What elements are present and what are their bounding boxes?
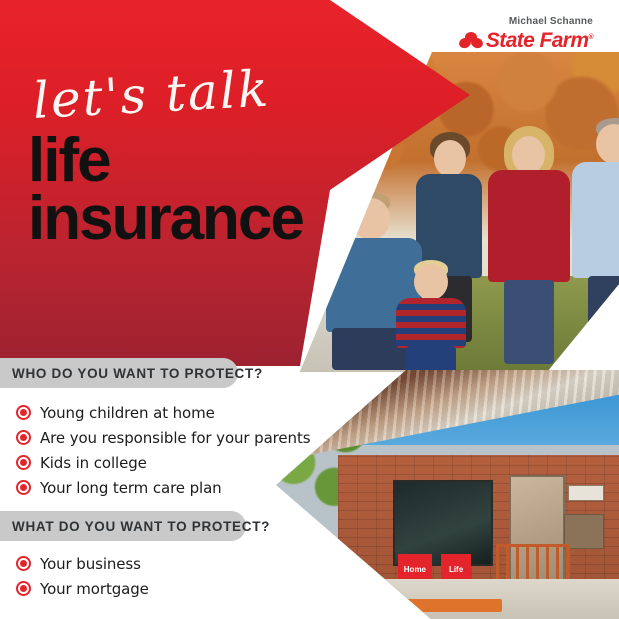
- banner-who-do-you-want-to-protect: WHO DO YOU WANT TO PROTECT?: [0, 358, 238, 388]
- radio-bullet-icon: [16, 581, 31, 596]
- registered-trademark: ®: [588, 34, 593, 41]
- curb-edge: [365, 599, 502, 611]
- headline-line-insurance: insurance: [28, 190, 303, 247]
- agent-name: Michael Schanne: [459, 16, 593, 27]
- state-farm-wordmark: State Farm®: [486, 29, 593, 53]
- protect-what-list: Your business Your mortgage: [16, 551, 149, 601]
- headline-group: let's talk life insurance: [0, 0, 470, 366]
- banner-what-do-you-want-to-protect: WHAT DO YOU WANT TO PROTECT?: [0, 511, 246, 541]
- address-number-sign: [568, 485, 604, 502]
- storefront-window: [393, 480, 493, 566]
- list-item: Young children at home: [16, 400, 310, 425]
- list-item-label: Are you responsible for your parents: [40, 429, 310, 447]
- list-item: Your mortgage: [16, 576, 149, 601]
- radio-bullet-icon: [16, 430, 31, 445]
- list-item: Kids in college: [16, 450, 310, 475]
- list-item-label: Your long term care plan: [40, 479, 222, 497]
- protect-who-list: Young children at home Are you responsib…: [16, 400, 310, 500]
- list-item: Your long term care plan: [16, 475, 310, 500]
- list-item: Your business: [16, 551, 149, 576]
- list-item-label: Young children at home: [40, 404, 215, 422]
- radio-bullet-icon: [16, 405, 31, 420]
- headline-line-life: life: [28, 132, 110, 189]
- banner-label: WHO DO YOU WANT TO PROTECT?: [0, 366, 285, 381]
- radio-bullet-icon: [16, 556, 31, 571]
- person-woman-red-sweater: [486, 126, 572, 362]
- state-farm-logo-block: Michael Schanne State Farm®: [459, 16, 593, 53]
- banner-label: WHAT DO YOU WANT TO PROTECT?: [0, 519, 292, 534]
- list-item: Are you responsible for your parents: [16, 425, 310, 450]
- list-item-label: Your business: [40, 555, 141, 573]
- radio-bullet-icon: [16, 480, 31, 495]
- script-headline: let's talk: [31, 60, 271, 130]
- person-man-blue-shirt: [572, 118, 619, 360]
- state-farm-three-ovals-icon: [459, 32, 483, 50]
- radio-bullet-icon: [16, 455, 31, 470]
- company-name: State Farm: [486, 29, 589, 52]
- list-item-label: Your mortgage: [40, 580, 149, 598]
- state-farm-office-exterior-photo: Home Life: [276, 370, 619, 619]
- list-item-label: Kids in college: [40, 454, 147, 472]
- advertisement-canvas: Home Life let's talk life insurance Mich…: [0, 0, 619, 619]
